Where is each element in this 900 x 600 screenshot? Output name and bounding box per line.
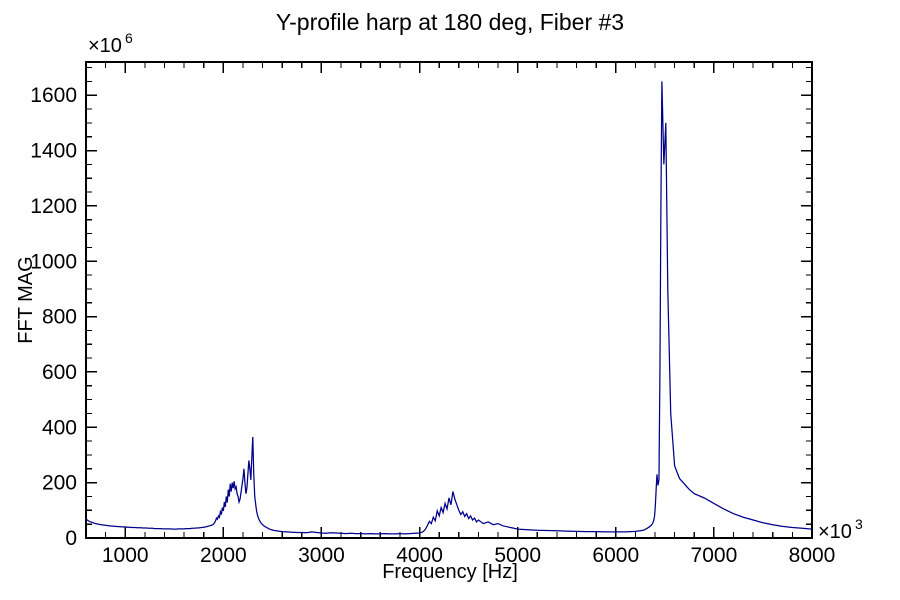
x-axis-exponent: ×10 3 bbox=[818, 516, 863, 543]
x-axis-title: Frequency [Hz] bbox=[382, 561, 518, 583]
spectrum-line bbox=[86, 81, 812, 533]
svg-text:3: 3 bbox=[855, 516, 863, 532]
data-trace bbox=[86, 81, 812, 533]
chart-canvas: 10002000300040005000600070008000 0200400… bbox=[0, 0, 900, 600]
y-tick-label: 600 bbox=[42, 361, 77, 384]
plot-root: Y-profile harp at 180 deg, Fiber #3 1000… bbox=[0, 0, 900, 600]
y-axis-title: FFT MAG bbox=[15, 256, 37, 343]
x-tick-label: 7000 bbox=[691, 544, 738, 567]
y-tick-label: 1600 bbox=[30, 84, 77, 107]
y-tick-label: 800 bbox=[42, 306, 77, 329]
x-axis-ticks bbox=[86, 62, 812, 538]
x-tick-label: 6000 bbox=[592, 544, 639, 567]
y-tick-label: 200 bbox=[42, 472, 77, 495]
x-tick-label: 2000 bbox=[200, 544, 247, 567]
y-axis-tick-labels: 02004006008001000120014001600 bbox=[30, 84, 77, 550]
x-tick-label: 8000 bbox=[789, 544, 836, 567]
x-tick-label: 1000 bbox=[102, 544, 149, 567]
fft-spectrum-chart: 10002000300040005000600070008000 0200400… bbox=[0, 0, 900, 600]
y-axis-exponent: ×10 6 bbox=[88, 30, 133, 57]
y-tick-label: 400 bbox=[42, 416, 77, 439]
y-tick-label: 1400 bbox=[30, 140, 77, 163]
y-tick-label: 1200 bbox=[30, 195, 77, 218]
y-axis-ticks bbox=[86, 68, 812, 538]
plot-frame bbox=[86, 62, 812, 538]
svg-text:×10: ×10 bbox=[88, 35, 122, 57]
y-tick-label: 0 bbox=[65, 527, 77, 550]
x-tick-label: 3000 bbox=[298, 544, 345, 567]
svg-text:×10: ×10 bbox=[818, 521, 852, 543]
y-tick-label: 1000 bbox=[30, 250, 77, 273]
svg-text:6: 6 bbox=[125, 30, 133, 46]
